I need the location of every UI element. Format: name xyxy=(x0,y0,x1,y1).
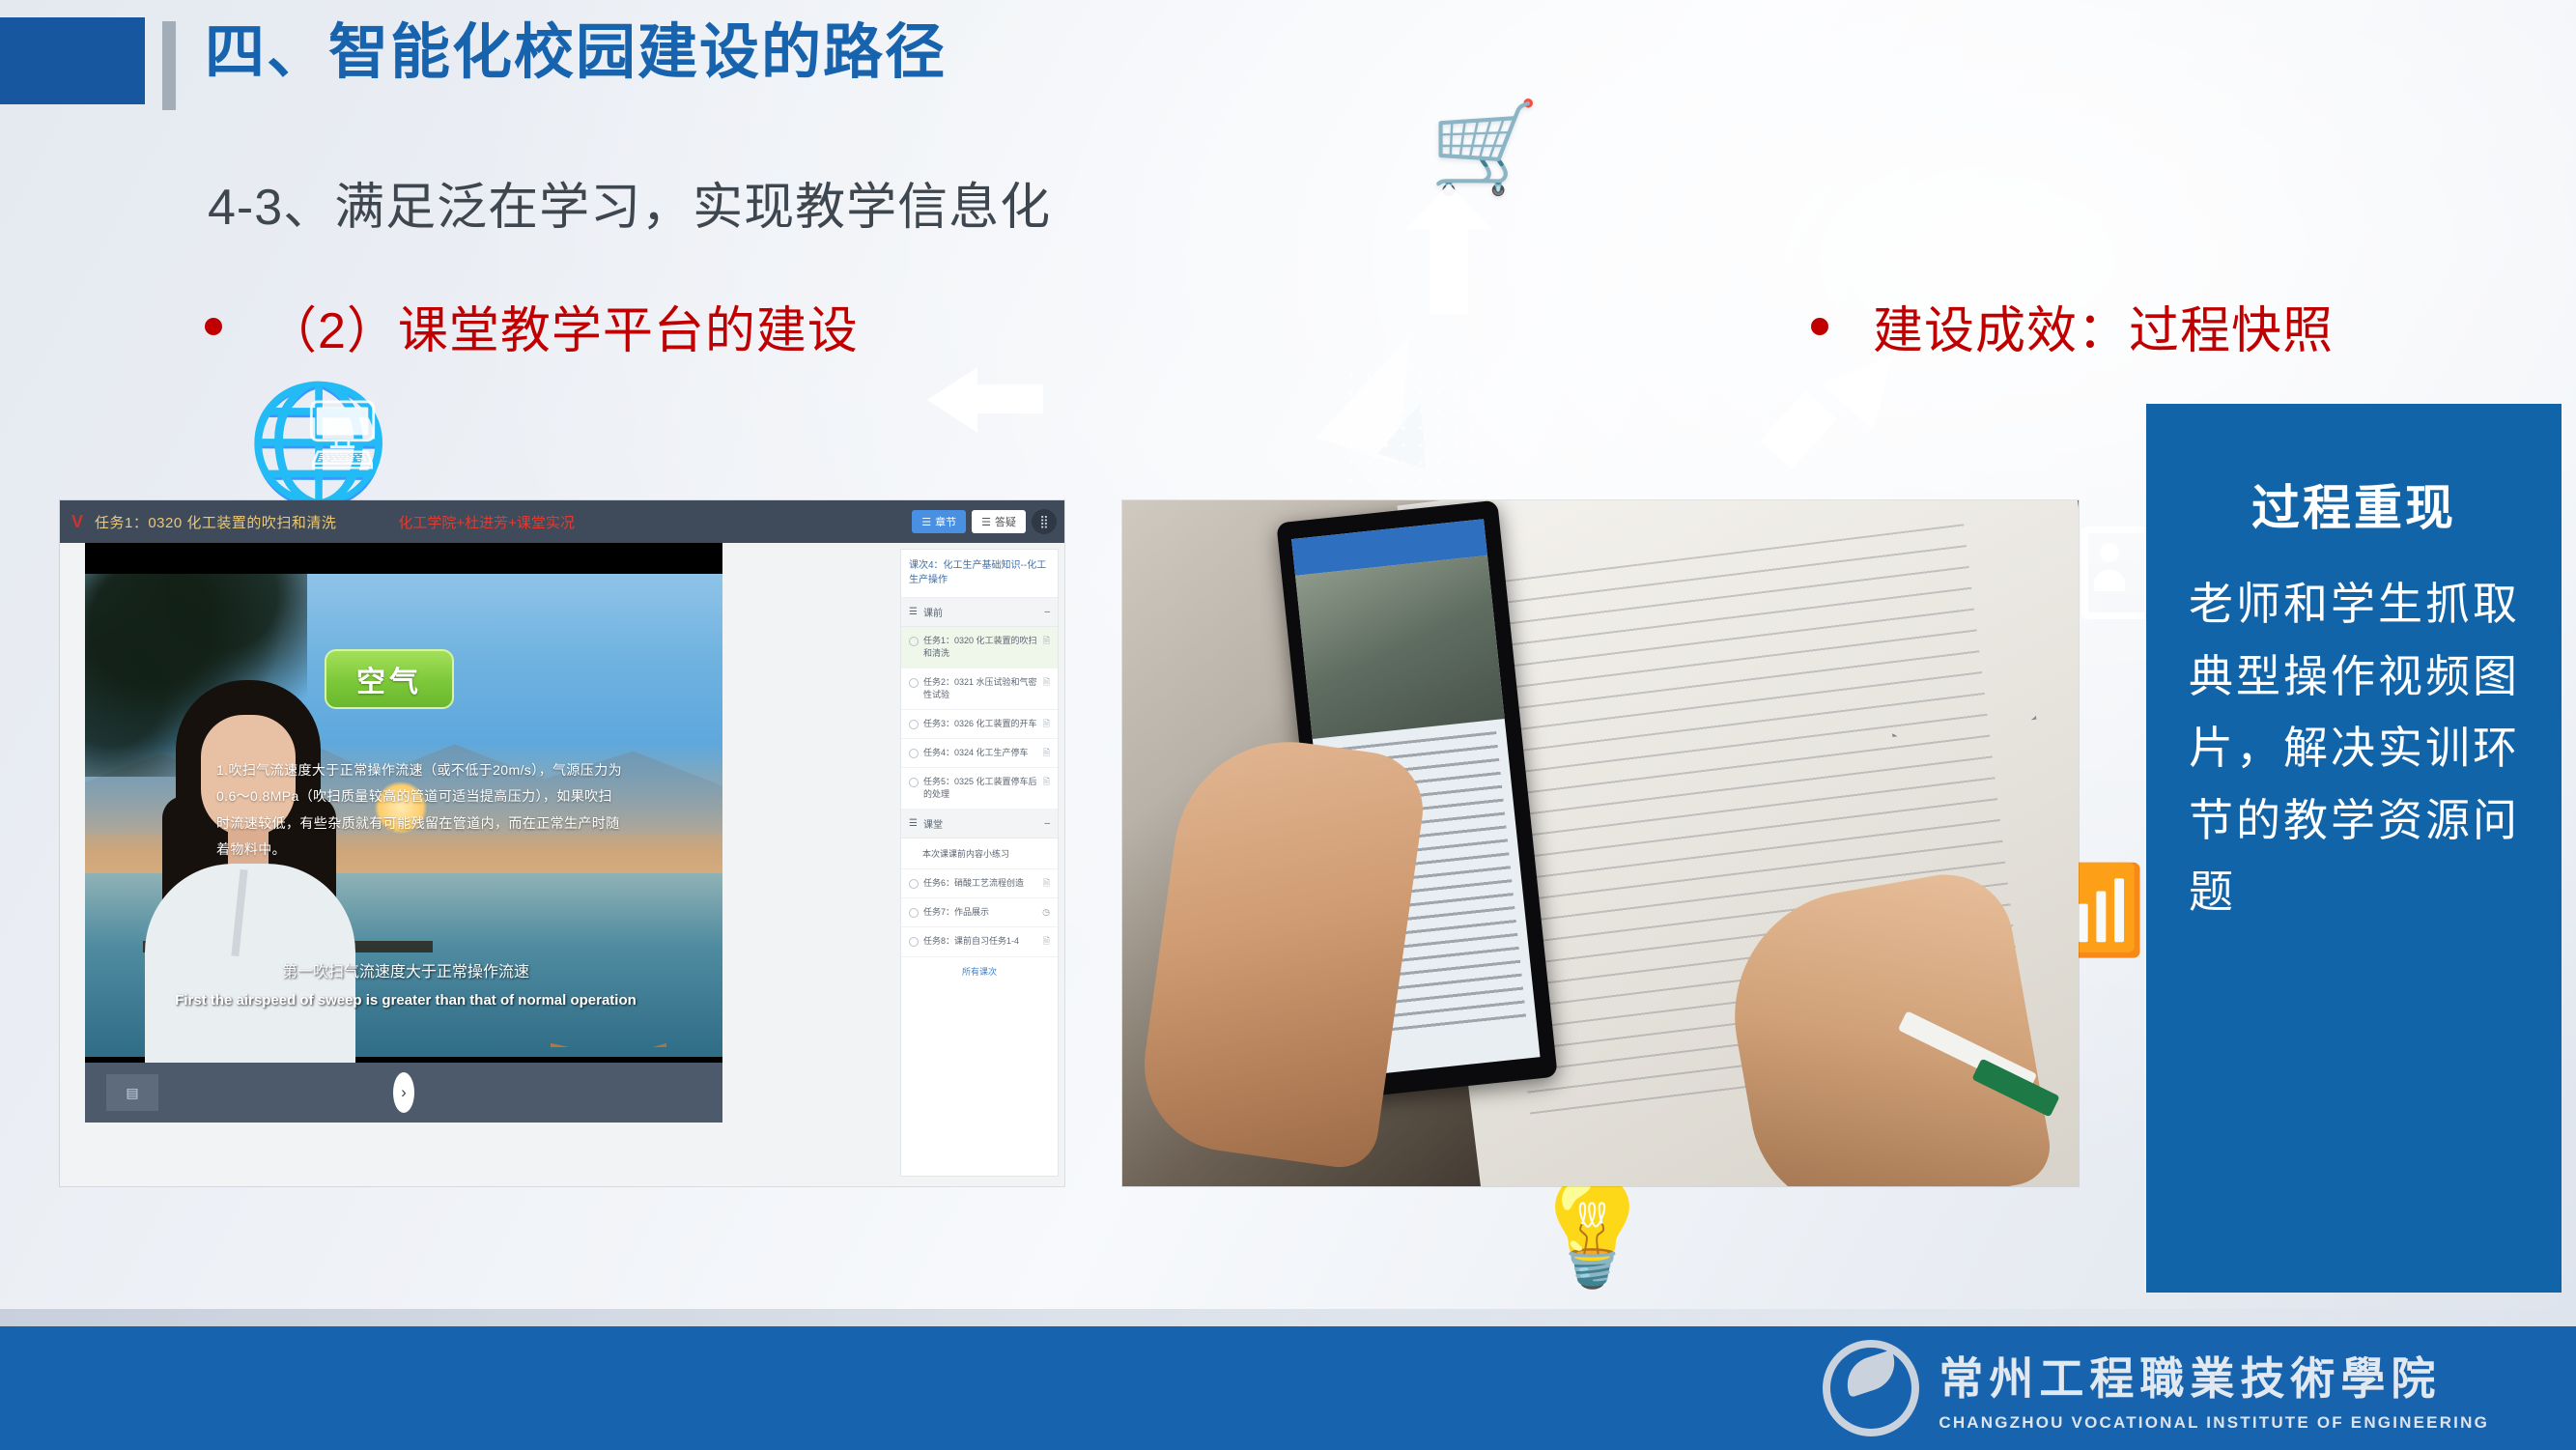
list-item-label: 任务8：课前自习任务1-4 xyxy=(923,935,1038,948)
doc-icon: 🗎 xyxy=(1043,718,1050,730)
bullet-item-left: （2）课堂教学平台的建设 xyxy=(205,290,859,362)
institute-logo-texts: 常州工程職業技術學院 CHANGZHOU VOCATIONAL INSTITUT… xyxy=(1939,1344,2489,1433)
air-badge: 空气 xyxy=(325,649,454,709)
course-group-header[interactable]: ☰ 课前 – xyxy=(901,598,1058,627)
list-item-label: 任务2：0321 水压试验和气密性试验 xyxy=(923,676,1038,701)
radio-icon[interactable] xyxy=(909,678,919,688)
slide: 🛒 🌐 🖥 ☕ 💡 📶 四、智能化校园建设的路径 4-3、满足泛在学习，实现教学… xyxy=(0,0,2576,1450)
chapter-button[interactable]: ☰ 章节 xyxy=(912,510,966,533)
arrow-diagonal-stem xyxy=(1760,390,1837,469)
doc-icon: 🗎 xyxy=(1043,635,1050,647)
id-card-icon xyxy=(2081,526,2151,619)
course-group-label: 课前 xyxy=(923,605,943,619)
thumbnail-icon[interactable]: ▤ xyxy=(106,1074,158,1111)
monitor-icon: 🖥 xyxy=(299,396,385,475)
doc-icon: 🗎 xyxy=(1043,776,1050,788)
institute-logo: 常州工程職業技術學院 CHANGZHOU VOCATIONAL INSTITUT… xyxy=(1823,1340,2489,1436)
list-icon: ☰ xyxy=(981,516,991,528)
video-frame: 空气 1.吹扫气流速度大于正常操作流速（或不低于20m/s），气源压力为 0.6… xyxy=(85,574,722,1057)
course-group-label: 课堂 xyxy=(923,816,943,831)
bullet-left-label: （2）课堂教学平台的建设 xyxy=(267,290,859,362)
institute-name-cn: 常州工程職業技術學院 xyxy=(1939,1344,2489,1407)
arrow-left-icon xyxy=(927,367,977,433)
course-header: 课次4：化工生产基础知识--化工生产操作 xyxy=(901,550,1058,598)
list-item[interactable]: 任务5：0325 化工装置停车后的处理 🗎 xyxy=(901,768,1058,810)
course-group-note: 本次课课前内容小练习 xyxy=(901,839,1058,869)
list-item[interactable]: 任务2：0321 水压试验和气密性试验 🗎 xyxy=(901,668,1058,710)
radio-icon[interactable] xyxy=(909,720,919,729)
list-icon: ☰ xyxy=(921,516,931,528)
subtitle-english: First the airspeed of sweep is greater t… xyxy=(124,992,688,1009)
all-sessions-link[interactable]: 所有课次 xyxy=(901,957,1058,985)
list-icon: ☰ xyxy=(909,607,918,617)
minus-icon[interactable]: – xyxy=(1044,607,1050,617)
doc-icon: 🗎 xyxy=(1043,676,1050,689)
doc-icon: 🗎 xyxy=(1043,747,1050,759)
video-player[interactable]: 空气 1.吹扫气流速度大于正常操作流速（或不低于20m/s），气源压力为 0.6… xyxy=(85,543,722,1123)
more-dots-icon[interactable]: ⣿ xyxy=(1032,509,1057,534)
bullet-item-right: 建设成效：过程快照 xyxy=(1811,290,2334,362)
classroom-photo xyxy=(1122,500,2079,1186)
list-item[interactable]: 任务4：0324 化工生产停车 🗎 xyxy=(901,739,1058,768)
scene-reeds xyxy=(551,864,666,1047)
doc-icon: 🗎 xyxy=(1043,877,1050,890)
globe-icon: 🌐 xyxy=(246,377,390,512)
institute-name-en: CHANGZHOU VOCATIONAL INSTITUTE OF ENGINE… xyxy=(1939,1413,2489,1433)
course-player-screenshot: V 任务1：0320 化工装置的吹扫和清洗 化工学院+杜进芳+课堂实况 ☰ 章节… xyxy=(60,500,1064,1186)
list-item-label: 任务6：硝酸工艺流程创造 xyxy=(923,877,1038,890)
chevron-right-icon[interactable]: › xyxy=(393,1072,414,1113)
platform-logo-icon: V xyxy=(68,512,87,531)
lightbulb-icon: 💡 xyxy=(1526,1169,1658,1294)
radio-icon[interactable] xyxy=(909,879,919,889)
player-task-title: 任务1：0320 化工装置的吹扫和清洗 xyxy=(95,512,336,532)
photo-phone-image xyxy=(1295,555,1505,739)
radio-icon[interactable] xyxy=(909,749,919,758)
list-item[interactable]: 任务8：课前自习任务1-4 🗎 xyxy=(901,927,1058,956)
course-group-header[interactable]: ☰ 课堂 – xyxy=(901,810,1058,839)
list-item[interactable]: 任务7：作品展示 ◷ xyxy=(901,898,1058,927)
heading-accent-bar xyxy=(162,21,176,110)
list-item[interactable]: 任务3：0326 化工装置的开车 🗎 xyxy=(901,710,1058,739)
player-actions: ☰ 章节 ☰ 答疑 ⣿ xyxy=(912,509,1057,534)
list-item[interactable]: 任务6：硝酸工艺流程创造 🗎 xyxy=(901,869,1058,898)
radio-icon[interactable] xyxy=(909,908,919,918)
institute-logo-icon xyxy=(1823,1340,1919,1436)
list-item-label: 任务7：作品展示 xyxy=(923,906,1037,919)
list-item[interactable]: 任务1：0320 化工装置的吹扫和清洗 🗎 xyxy=(901,627,1058,668)
subtitle-chinese: 第一吹扫气流速度大于正常操作流速 xyxy=(155,958,657,981)
player-red-note: 化工学院+杜进芳+课堂实况 xyxy=(398,512,575,532)
building-dots-pattern xyxy=(1343,367,1487,483)
footer-bar: 常州工程職業技術學院 CHANGZHOU VOCATIONAL INSTITUT… xyxy=(0,1326,2576,1450)
radio-icon[interactable] xyxy=(909,937,919,947)
qa-button[interactable]: ☰ 答疑 xyxy=(972,510,1026,533)
footer-gradient xyxy=(0,1309,2576,1326)
player-topbar: V 任务1：0320 化工装置的吹扫和清洗 化工学院+杜进芳+课堂实况 ☰ 章节… xyxy=(60,500,1064,543)
photo-diagram xyxy=(1878,595,2037,737)
bullet-right-label: 建设成效：过程快照 xyxy=(1873,290,2334,362)
clock-icon: ◷ xyxy=(1042,906,1050,919)
list-icon: ☰ xyxy=(909,818,918,829)
highlight-panel: 过程重现 老师和学生抓取典型操作视频图片，解决实训环节的教学资源问题 xyxy=(2146,404,2562,1293)
course-sidebar[interactable]: 课次4：化工生产基础知识--化工生产操作 ☰ 课前 – 任务1：0320 化工装… xyxy=(900,549,1059,1177)
bullet-dot-icon xyxy=(205,318,222,335)
page-subtitle: 4-3、满足泛在学习，实现教学信息化 xyxy=(208,166,1051,239)
page-title: 四、智能化校园建设的路径 xyxy=(205,23,947,83)
list-item-label: 任务4：0324 化工生产停车 xyxy=(923,747,1038,759)
heading-accent-block xyxy=(0,17,145,104)
doc-icon: 🗎 xyxy=(1043,935,1050,948)
qa-button-label: 答疑 xyxy=(995,514,1016,529)
arrow-up-stem xyxy=(1430,208,1468,314)
list-item-label: 任务1：0320 化工装置的吹扫和清洗 xyxy=(923,635,1038,660)
arrow-left-stem xyxy=(976,384,1043,413)
chapter-button-label: 章节 xyxy=(935,514,956,529)
panel-body: 老师和学生抓取典型操作视频图片，解决实训环节的教学资源问题 xyxy=(2173,568,2534,928)
list-item-label: 任务3：0326 化工装置的开车 xyxy=(923,718,1038,730)
list-item-label: 任务5：0325 化工装置停车后的处理 xyxy=(923,776,1038,801)
radio-icon[interactable] xyxy=(909,637,919,646)
bullet-dot-icon xyxy=(1811,318,1828,335)
minus-icon[interactable]: – xyxy=(1044,818,1050,829)
radio-icon[interactable] xyxy=(909,778,919,787)
video-overlay-paragraph: 1.吹扫气流速度大于正常操作流速（或不低于20m/s），气源压力为 0.6～0.… xyxy=(216,757,622,863)
video-bottom-bar: ▤ › xyxy=(85,1063,722,1123)
panel-title: 过程重现 xyxy=(2173,469,2534,539)
